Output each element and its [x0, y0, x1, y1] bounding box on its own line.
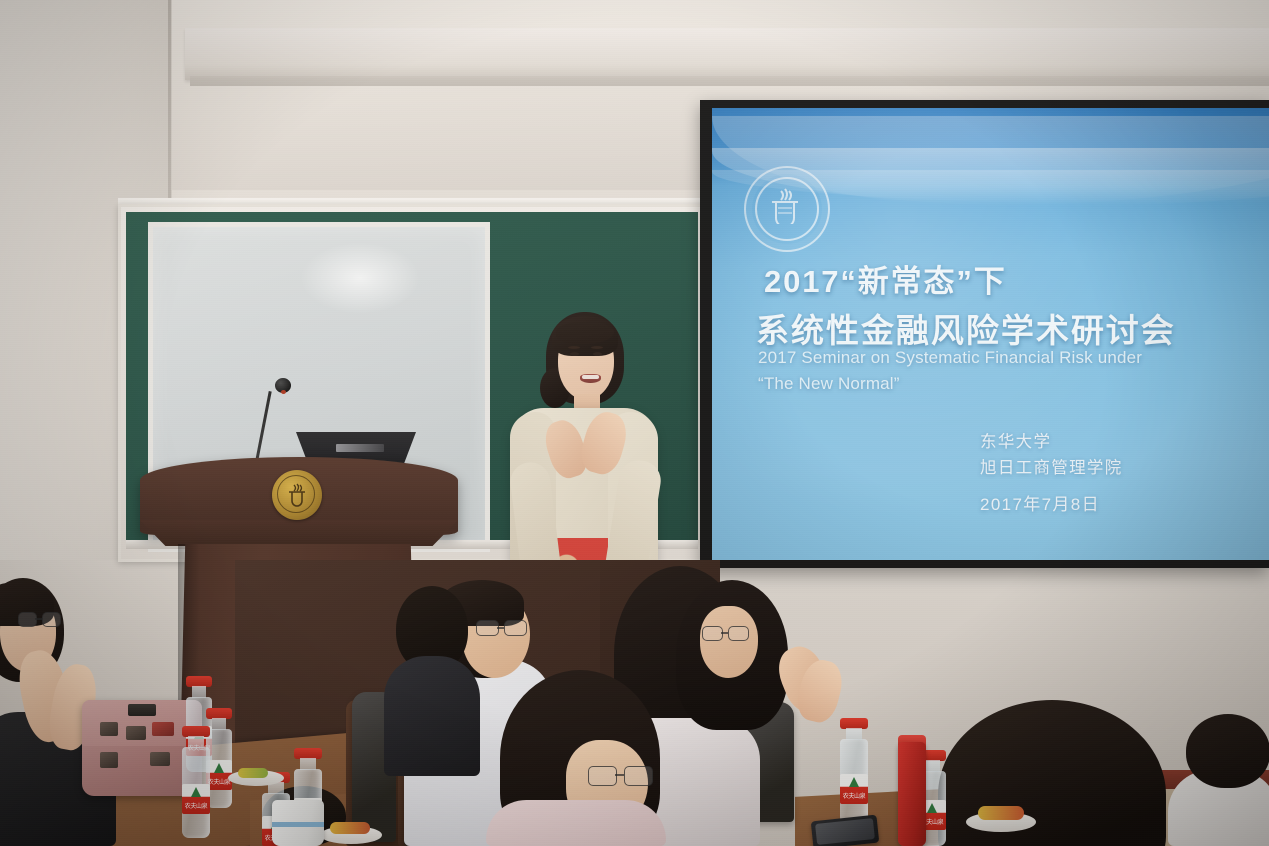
- microphone-indicator: [281, 390, 286, 394]
- conference-photo-scene: 2017“新常态”下 系统性金融风险学术研讨会 2017 Seminar on …: [0, 0, 1269, 846]
- handbag-stud-2: [126, 726, 146, 740]
- speaker-teeth: [582, 375, 599, 379]
- monitor-brand-logo: [336, 444, 384, 452]
- whiteboard-glare: [300, 242, 420, 314]
- podium-lip: [140, 520, 458, 546]
- audience-hair-far-right: [1186, 714, 1269, 788]
- speaker-eye-right: [593, 352, 602, 356]
- water-bottle-3: 农夫山泉: [182, 726, 210, 838]
- podium-university-emblem-icon: [272, 470, 322, 520]
- ceiling-soffit: [185, 28, 1269, 80]
- audience-body-back-row-man: [384, 656, 480, 776]
- glasses-icon-white-shirt-man: [476, 620, 532, 638]
- speaker-eyebrow-right: [591, 346, 603, 349]
- glasses-icon-right-center-woman: [702, 626, 752, 642]
- food-on-plate-3: [978, 806, 1024, 820]
- speaker-eye-left: [570, 352, 579, 356]
- handbag-stud-5: [150, 752, 170, 766]
- red-thermos-bottle: [898, 742, 926, 846]
- podium-emblem-glyph: [287, 483, 307, 507]
- soffit-lip: [190, 76, 1269, 86]
- handbag-clasp: [128, 704, 156, 716]
- water-bottle-6: 农夫山泉: [840, 718, 868, 824]
- projection-screen: 2017“新常态”下 系统性金融风险学术研讨会 2017 Seminar on …: [712, 108, 1269, 560]
- food-on-plate-2: [330, 822, 370, 834]
- audience-body-pink-top-woman: [486, 800, 666, 846]
- audience-face-right-center-woman: [700, 606, 758, 678]
- glasses-icon-left-woman: [18, 612, 64, 628]
- ceramic-cup-stripe: [272, 822, 324, 827]
- screen-vignette: [712, 108, 1269, 560]
- handbag-stud-3: [152, 722, 174, 736]
- handbag-stud-1: [100, 722, 118, 736]
- speaker-eyebrow-left: [568, 346, 580, 349]
- food-on-plate-1: [238, 768, 268, 778]
- handbag-stud-4: [100, 752, 118, 768]
- glasses-icon-pink-top-woman: [588, 766, 656, 788]
